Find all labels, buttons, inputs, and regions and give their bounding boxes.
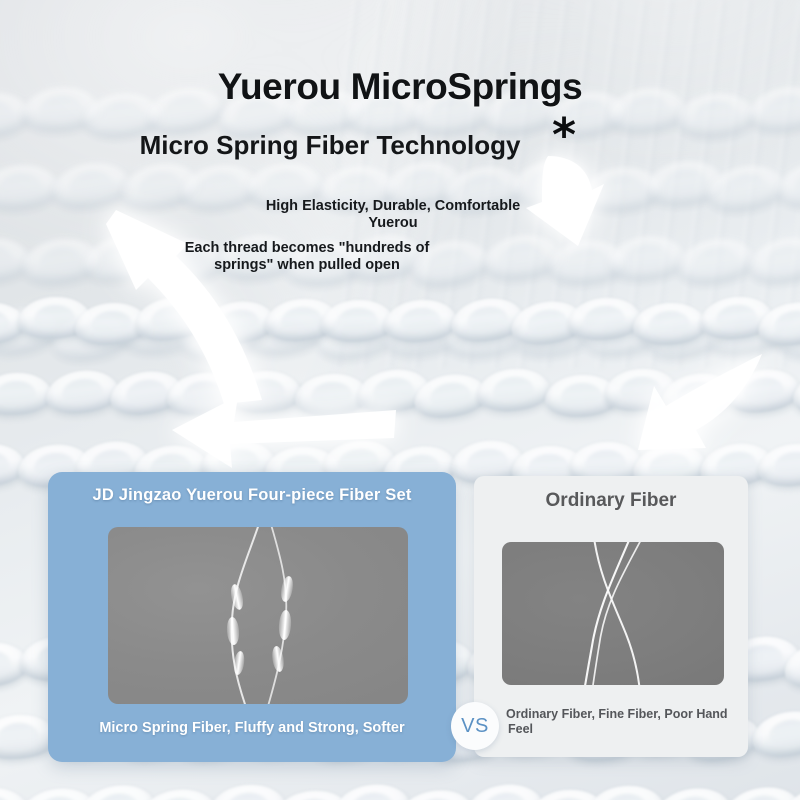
ordinary-panel-caption: Ordinary Fiber, Fine Fiber, Poor Hand Fe… bbox=[508, 707, 728, 736]
ordinary-panel-title: Ordinary Fiber bbox=[474, 491, 748, 512]
tagline-primary: High Elasticity, Durable, Comfortable Yu… bbox=[258, 198, 528, 231]
micro-spring-fiber-photo bbox=[108, 527, 408, 704]
ordinary-fiber-strands bbox=[502, 542, 724, 685]
brand-panel-caption: Micro Spring Fiber, Fluffy and Strong, S… bbox=[48, 720, 456, 736]
ordinary-fiber-photo bbox=[502, 542, 724, 685]
subtitle: Micro Spring Fiber Technology bbox=[120, 132, 540, 160]
vs-label: VS bbox=[461, 715, 489, 738]
micro-spring-fiber-strands bbox=[108, 527, 408, 704]
background-thread-streaks bbox=[336, 0, 800, 368]
page-title: Yuerou MicroSprings bbox=[0, 66, 800, 108]
tagline-secondary: Each thread becomes "hundreds of springs… bbox=[162, 240, 452, 273]
vs-badge: VS bbox=[451, 702, 499, 750]
poster-canvas: Yuerou MicroSprings Micro Spring Fiber T… bbox=[0, 0, 800, 800]
brand-panel-title: JD Jingzao Yuerou Four-piece Fiber Set bbox=[48, 486, 456, 505]
asterisk-mark: * bbox=[552, 112, 576, 158]
comparison-panel-ordinary: Ordinary Fiber Ordinary Fiber, Fine Fibe… bbox=[474, 476, 748, 757]
comparison-panel-brand: JD Jingzao Yuerou Four-piece Fiber Set bbox=[48, 472, 456, 762]
